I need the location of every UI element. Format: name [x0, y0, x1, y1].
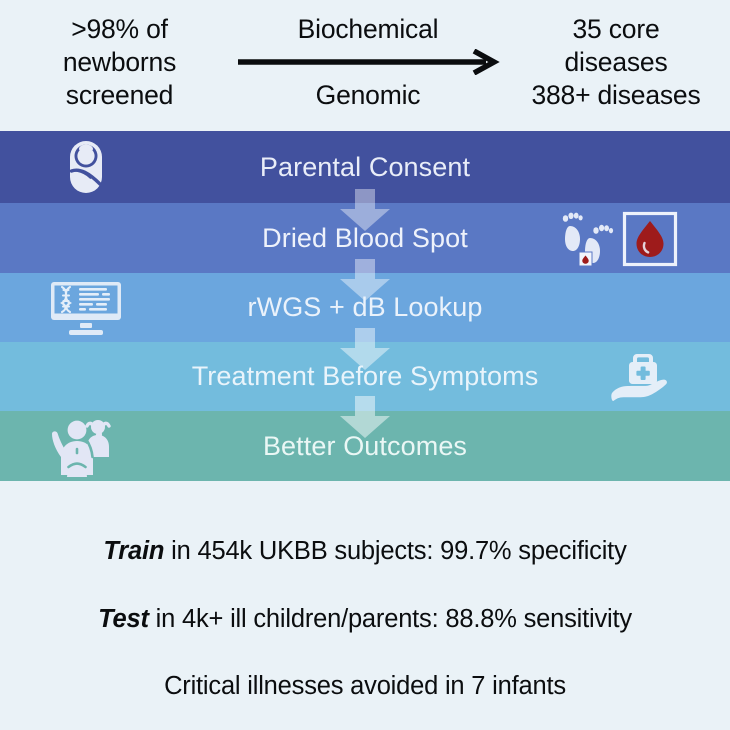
- footer-line-train: Train in 454k UKBB subjects: 99.7% speci…: [0, 537, 730, 566]
- header-left-line-3: screened: [12, 79, 227, 112]
- footer-test-rest: in 4k+ ill children/parents: 88.8% sensi…: [149, 605, 632, 633]
- flow-step-treatment-before-symptoms[interactable]: Treatment Before Symptoms: [0, 342, 730, 411]
- header-left-line-2: newborns: [12, 46, 227, 79]
- header-middle-group: Biochemical Genomic: [228, 13, 508, 112]
- header-biochemical-label: Biochemical: [228, 13, 508, 46]
- footer-line-outcome: Critical illnesses avoided in 7 infants: [0, 672, 730, 701]
- footer-section: Train in 454k UKBB subjects: 99.7% speci…: [0, 481, 730, 730]
- header-right-line-1: 35 core: [505, 13, 727, 46]
- header-right-line-3: 388+ diseases: [505, 79, 727, 112]
- header-genomic-label: Genomic: [228, 79, 508, 112]
- footer-train-emphasis: Train: [103, 537, 164, 565]
- family-icon: [48, 415, 122, 477]
- infographic-canvas: >98% of newborns screened Biochemical Ge…: [0, 0, 730, 730]
- header-right-line-2: diseases: [505, 46, 727, 79]
- flow-step-label: rWGS + dB Lookup: [248, 292, 483, 323]
- flow-step-parental-consent[interactable]: Parental Consent: [0, 131, 730, 203]
- footer-line-test: Test in 4k+ ill children/parents: 88.8% …: [0, 605, 730, 634]
- blood-drop-card-icon: [622, 211, 678, 267]
- flow-step-label: Treatment Before Symptoms: [192, 361, 539, 392]
- flow-step-label: Better Outcomes: [263, 431, 467, 462]
- flow-step-rwgs-db-lookup[interactable]: rWGS + dB Lookup: [0, 273, 730, 342]
- swaddled-baby-icon: [56, 137, 116, 197]
- header-arrow-wrap: [228, 49, 508, 75]
- header-section: >98% of newborns screened Biochemical Ge…: [0, 0, 730, 131]
- flow-step-better-outcomes[interactable]: Better Outcomes: [0, 411, 730, 481]
- dna-monitor-icon: [50, 279, 122, 337]
- header-right-text: 35 core diseases 388+ diseases: [505, 13, 727, 112]
- flow-step-label: Parental Consent: [260, 152, 470, 183]
- baby-footprints-icon: [556, 210, 618, 268]
- flow-diagram: Parental Consent: [0, 131, 730, 481]
- header-left-line-1: >98% of: [12, 13, 227, 46]
- footer-train-rest: in 454k UKBB subjects: 99.7% specificity: [164, 537, 626, 565]
- footer-test-emphasis: Test: [98, 605, 149, 633]
- flow-step-label: Dried Blood Spot: [262, 223, 468, 254]
- hand-medical-kit-icon: [607, 346, 679, 408]
- flow-step-dried-blood-spot[interactable]: Dried Blood Spot: [0, 203, 730, 273]
- right-arrow-icon: [228, 49, 508, 75]
- header-left-text: >98% of newborns screened: [12, 13, 227, 112]
